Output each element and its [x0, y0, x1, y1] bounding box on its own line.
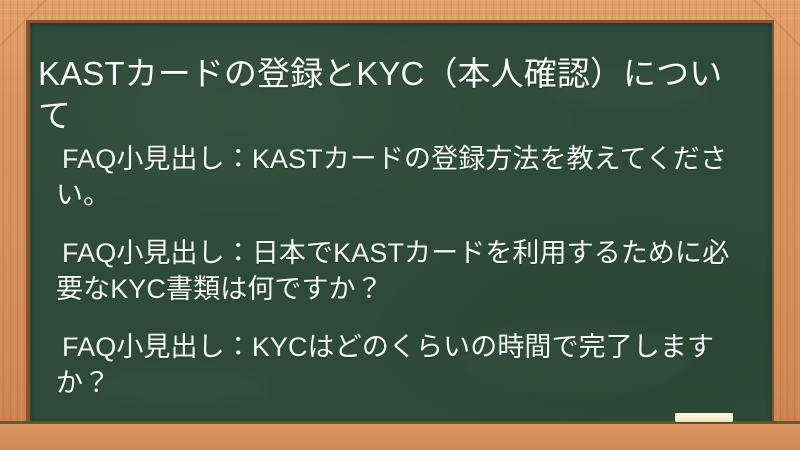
faq-item: FAQ小見出し：日本でKASTカードを利用するために必要なKYC書類は何ですか？: [56, 236, 756, 308]
chalk-stick-icon: [675, 413, 733, 422]
page-title: KASTカードの登録とKYC（本人確認）について: [38, 53, 754, 137]
faq-list: FAQ小見出し：KASTカードの登録方法を教えてください。 FAQ小見出し：日本…: [56, 142, 756, 401]
blackboard-slide: KASTカードの登録とKYC（本人確認）について FAQ小見出し：KASTカード…: [0, 0, 800, 450]
chalkboard-surface: KASTカードの登録とKYC（本人確認）について FAQ小見出し：KASTカード…: [30, 23, 772, 422]
frame-top-grain: [0, 0, 800, 22]
faq-item: FAQ小見出し：KYCはどのくらいの時間で完了しますか？: [56, 330, 756, 402]
faq-item: FAQ小見出し：KASTカードの登録方法を教えてください。: [56, 142, 756, 214]
chalk-tray: [0, 424, 800, 450]
